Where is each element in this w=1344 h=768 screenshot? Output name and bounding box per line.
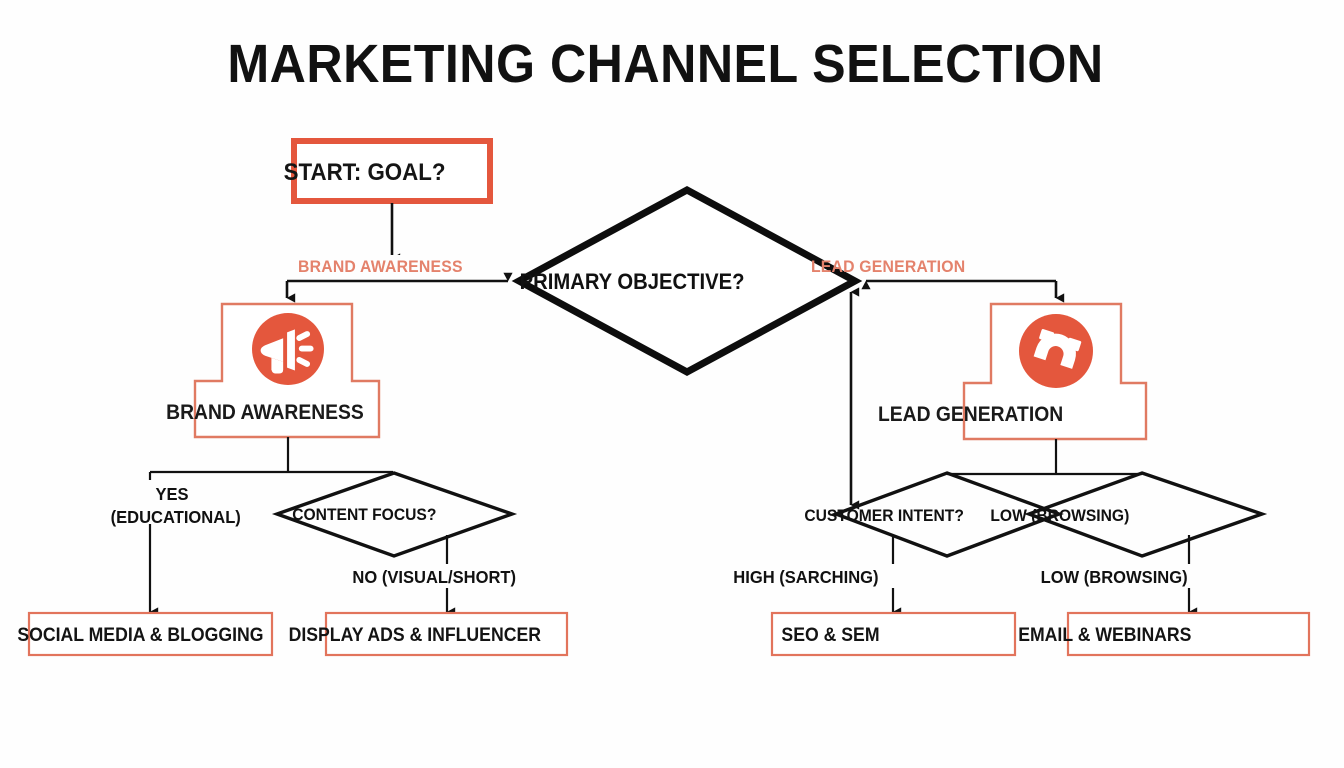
node-low-browsing-label: LOW (BROWSING) (990, 506, 1129, 525)
node-seo-sem-label: SEO & SEM (781, 623, 879, 645)
node-content-focus-label: CONTENT FOCUS? (292, 505, 436, 524)
edge-label-high-searching: HIGH (SARCHING) (733, 566, 878, 587)
flowchart-svg: MARKETING CHANNEL SELECTION START: GOAL?… (0, 0, 1344, 768)
node-start-label: START: GOAL? (284, 158, 446, 185)
node-social-media-label: SOCIAL MEDIA & BLOGGING (17, 623, 263, 645)
edge-label-yes-line1: YES (155, 483, 188, 504)
edge-label-yes-line2: (EDUCATIONAL) (111, 506, 241, 527)
node-email-webinars-label: EMAIL & WEBINARS (1018, 623, 1191, 645)
edge-label-low-browsing: LOW (BROWSING) (1041, 566, 1188, 587)
edge-label-no-visual-short: NO (VISUAL/SHORT) (352, 566, 516, 587)
edge-label-lead-generation: LEAD GENERATION (811, 258, 965, 277)
edge-label-brand-awareness: BRAND AWARENESS (298, 258, 463, 277)
magnet-icon-circle (1019, 314, 1093, 388)
node-display-ads-label: DISPLAY ADS & INFLUENCER (289, 623, 541, 645)
node-lead-generation-label: LEAD GENERATION (878, 403, 1063, 426)
page-title: MARKETING CHANNEL SELECTION (227, 34, 1103, 94)
node-primary-objective-label: PRIMARY OBJECTIVE? (520, 270, 745, 294)
node-brand-awareness-label: BRAND AWARENESS (166, 401, 364, 424)
flowchart-canvas: MARKETING CHANNEL SELECTION START: GOAL?… (0, 0, 1344, 768)
node-customer-intent-label: CUSTOMER INTENT? (804, 506, 964, 525)
